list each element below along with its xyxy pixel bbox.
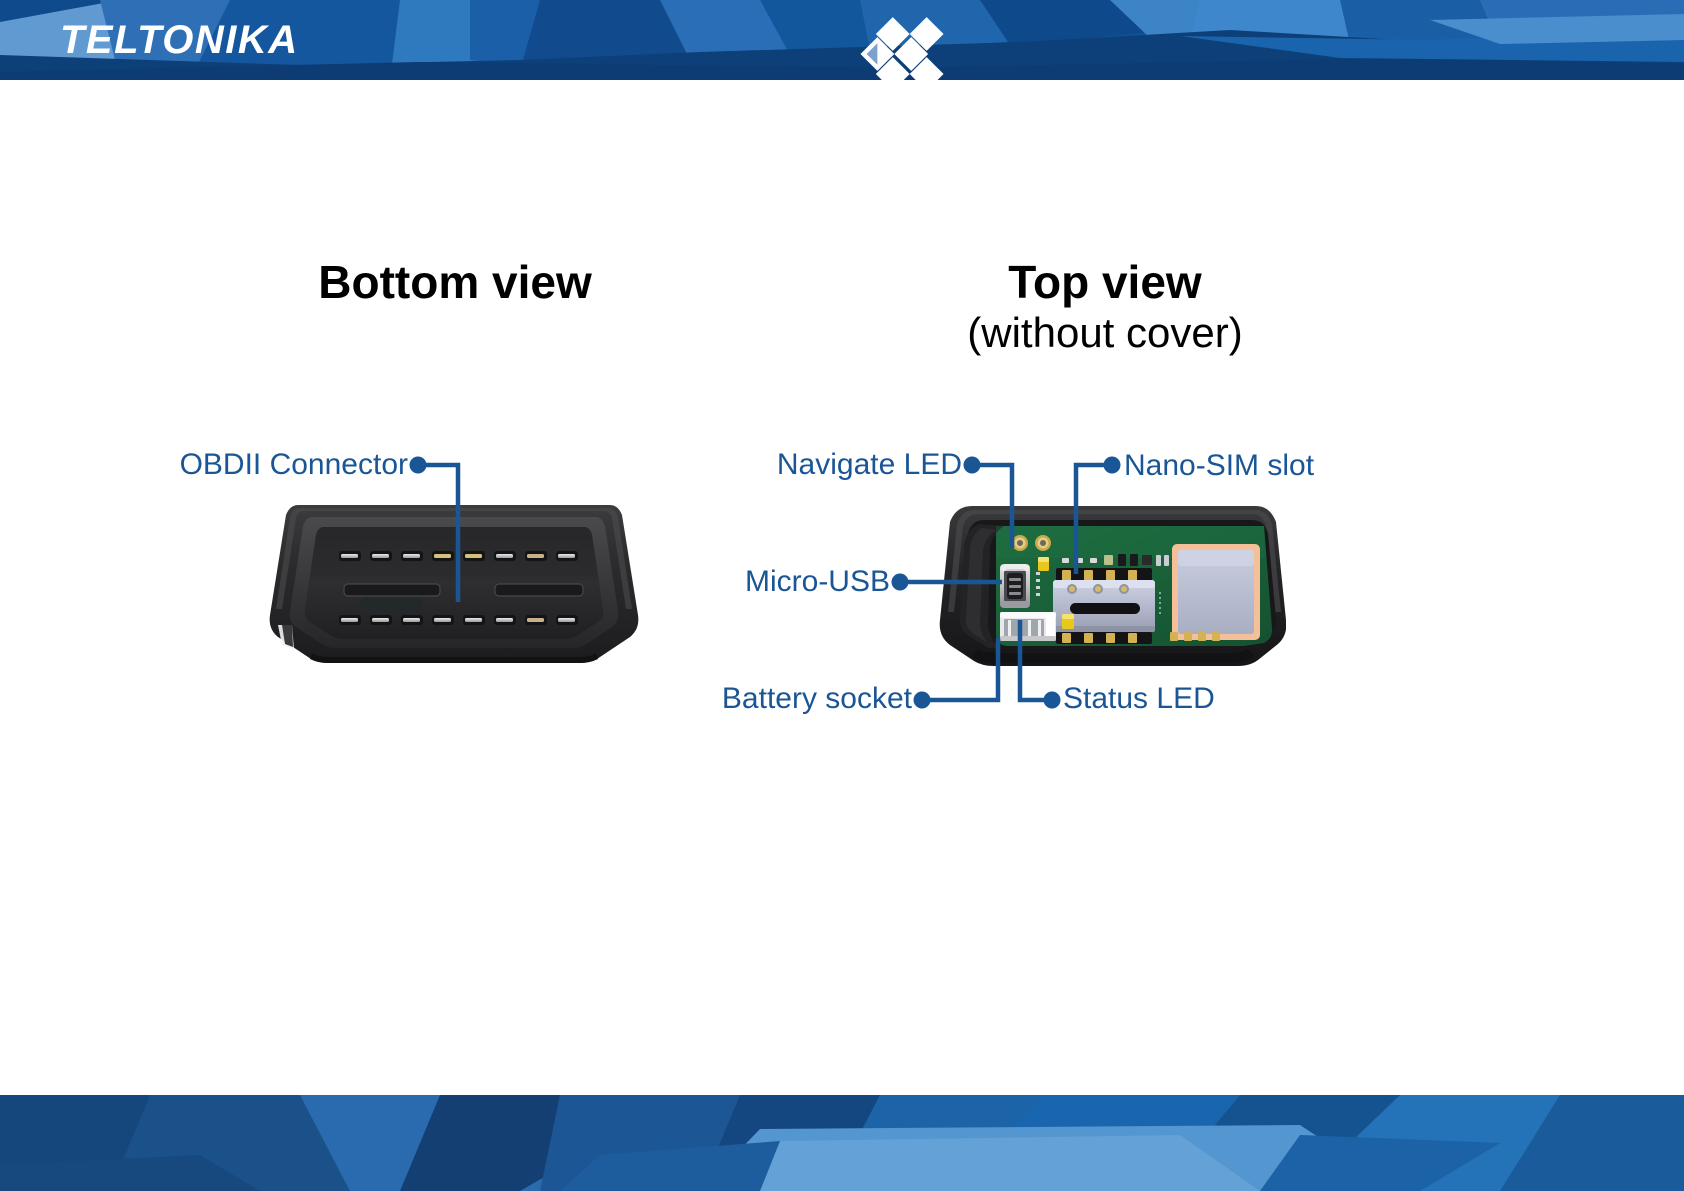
leader-dot-navigate-led <box>964 457 981 474</box>
header-banner: TELTONIKA <box>0 0 1684 80</box>
callout-battery-socket: Battery socket <box>640 684 912 714</box>
callout-navigate-led: Navigate LED <box>700 450 962 480</box>
pcb-top-view-device <box>938 500 1286 670</box>
top-view-subtitle: (without cover) <box>835 310 1375 355</box>
nano-sim-slot-component <box>1053 568 1155 644</box>
top-view-title: Top view <box>835 258 1375 308</box>
callout-micro-usb: Micro-USB <box>660 567 890 597</box>
teltonika-chevron-logo-icon <box>60 14 1684 80</box>
leader-dot-battery-socket <box>914 692 931 709</box>
leader-dot-micro-usb <box>892 574 909 591</box>
callout-nano-sim-slot: Nano-SIM slot <box>1124 451 1314 481</box>
obdii-connector-illustration <box>268 497 640 669</box>
footer-polygon-pattern <box>0 1095 1684 1191</box>
leader-dot-status-led <box>1044 692 1061 709</box>
brand-logo: TELTONIKA <box>60 14 299 66</box>
pcb-illustration <box>938 500 1286 670</box>
battery-socket-component <box>1000 612 1056 641</box>
leader-dot-nano-sim-slot <box>1104 457 1121 474</box>
leader-dot-obdii-connector <box>410 457 427 474</box>
footer-banner <box>0 1095 1684 1191</box>
obdii-connector-device <box>268 497 640 669</box>
callout-status-led: Status LED <box>1063 684 1215 714</box>
callout-obdii-connector: OBDII Connector <box>112 450 408 480</box>
gnss-module-component <box>1172 544 1260 640</box>
bottom-view-title: Bottom view <box>185 258 725 308</box>
micro-usb-component <box>1000 564 1030 608</box>
